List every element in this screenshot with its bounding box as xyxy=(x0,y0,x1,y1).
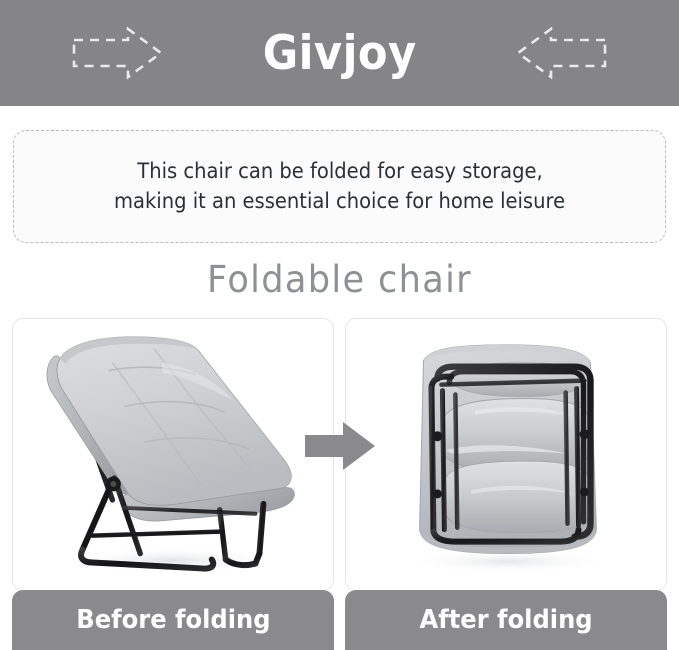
panel-after-folding xyxy=(345,318,667,591)
caption-before-folding: Before folding xyxy=(12,590,334,650)
caption-before-label: Before folding xyxy=(76,607,270,633)
folded-chair-image xyxy=(346,319,666,590)
caption-after-folding: After folding xyxy=(345,590,667,650)
brand-name: Givjoy xyxy=(263,30,417,77)
description-line-1: This chair can be folded for easy storag… xyxy=(137,157,542,187)
dashed-arrow-left-icon xyxy=(515,26,607,80)
dashed-arrow-right-icon xyxy=(72,26,164,80)
description-line-2: making it an essential choice for home l… xyxy=(114,187,565,217)
section-heading: Foldable chair xyxy=(17,258,662,301)
brand-header: Givjoy xyxy=(0,0,679,106)
arrow-right-icon xyxy=(303,419,377,473)
caption-after-label: After folding xyxy=(419,607,592,633)
unfolded-chair-image xyxy=(13,319,333,590)
product-infographic: Givjoy This chair can be folded for easy… xyxy=(0,0,679,650)
description-box: This chair can be folded for easy storag… xyxy=(13,130,666,243)
panel-before-folding xyxy=(12,318,334,591)
